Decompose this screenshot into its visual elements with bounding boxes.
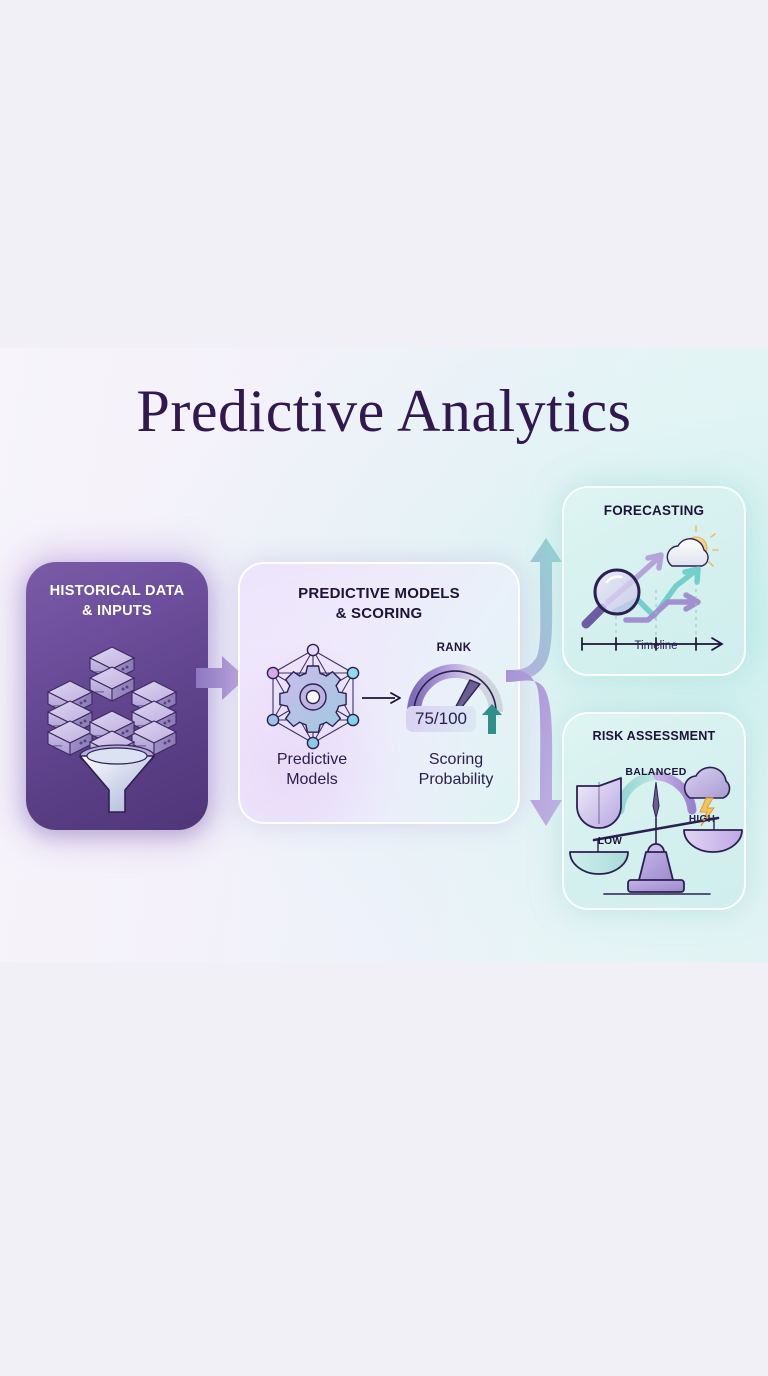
risk-card-title: RISK ASSESSMENT [564, 729, 744, 743]
rank-caption: RANK [414, 642, 494, 654]
server-stack-funnel-icon [26, 630, 208, 820]
forecasting-card-title: FORECASTING [564, 503, 744, 518]
scoring-probability-label: Scoring Probability [392, 750, 520, 790]
predictive-models-label: Predictive Models [250, 750, 374, 790]
scoring-label-line2: Probability [419, 771, 494, 788]
arrow-right-icon [362, 690, 404, 706]
models-title-line2: & SCORING [336, 605, 423, 622]
stage-card-forecasting[interactable]: FORECASTING [562, 486, 746, 676]
models-title-line1: PREDICTIVE MODELS [298, 585, 460, 602]
sun-cloud-icon [667, 526, 718, 571]
risk-low-label: LOW [584, 836, 636, 847]
arrow-up-icon [482, 704, 502, 734]
historical-card-title: HISTORICAL DATA & INPUTS [26, 582, 208, 621]
scoring-label-line1: Scoring [429, 751, 483, 768]
page-title: Predictive Analytics [0, 381, 768, 441]
magnifier-icon [586, 570, 639, 624]
timeline-axis-label: Timeline [564, 640, 748, 652]
neural-network-gear-icon [254, 638, 372, 756]
predictive-models-label-line2: Models [286, 771, 338, 788]
stage-card-risk-assessment[interactable]: RISK ASSESSMENT [562, 712, 746, 910]
shield-icon [577, 778, 621, 828]
predictive-models-label-line1: Predictive [277, 751, 347, 768]
score-badge: 75/100 [406, 706, 476, 732]
historical-title-line2: & INPUTS [82, 603, 152, 619]
risk-balanced-label: BALANCED [564, 766, 748, 778]
stage-card-predictive-models[interactable]: PREDICTIVE MODELS & SCORING [238, 562, 520, 824]
historical-title-line1: HISTORICAL DATA [50, 583, 185, 599]
models-card-title: PREDICTIVE MODELS & SCORING [240, 584, 518, 625]
balanced-gauge-icon [620, 776, 692, 818]
stage-card-historical-data[interactable]: HISTORICAL DATA & INPUTS [26, 562, 208, 830]
risk-high-label: HIGH [676, 814, 728, 825]
